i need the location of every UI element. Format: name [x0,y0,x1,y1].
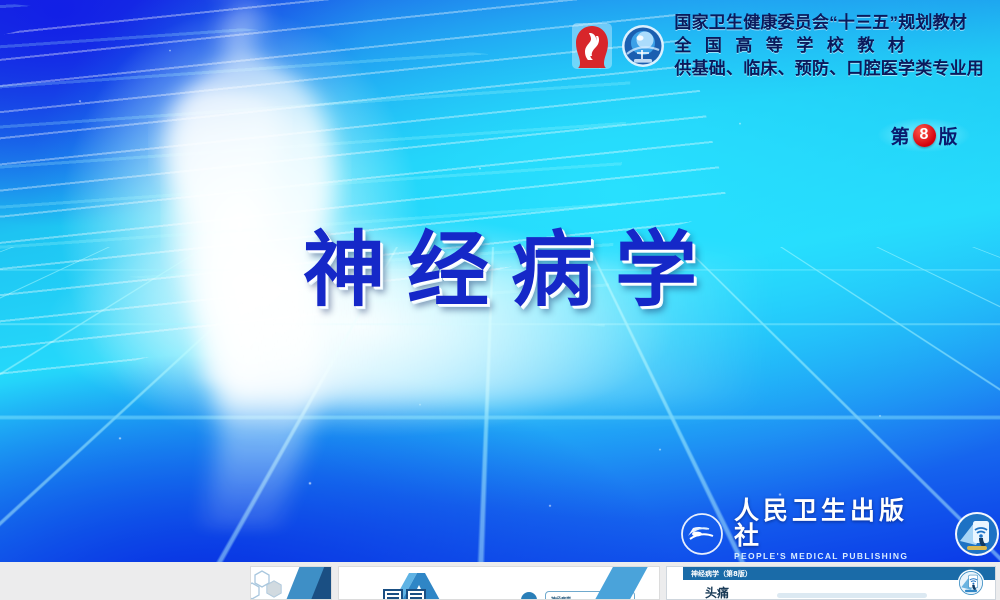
slide-filmstrip[interactable]: 神经病学 神经病学（第8版） 头痛 [0,562,1000,600]
thumbnail-heading-underline [777,593,927,598]
edition-prefix: 第 [890,122,909,149]
header-line-1: 国家卫生健康委员会“十三五”规划教材 [674,12,984,34]
header-line-3: 供基础、临床、预防、口腔医学类专业用 [674,58,984,80]
right-triangle-shape [591,566,651,600]
thumbnail-bar-title: 神经病学（第8版） [683,569,752,579]
thumbnail-chevron-doc[interactable]: 神经病学 [338,566,660,600]
wifi-touch-badge-icon [957,569,985,597]
document-boxes-icon [383,589,426,600]
wifi-touch-badge-icon[interactable] [954,511,1000,557]
header-text-lines: 国家卫生健康委员会“十三五”规划教材 全国高等学校教材 供基础、临床、预防、口腔… [674,12,984,79]
nhc-red-emblem-icon [572,23,612,69]
edition-number: 8 [913,124,936,147]
blue-globe-135-icon [621,24,665,68]
presentation-viewer: 国家卫生健康委员会“十三五”规划教材 全国高等学校教材 供基础、临床、预防、口腔… [0,0,1000,600]
publisher-block: 人民卫生出版社 PEOPLE'S MEDICAL PUBLISHING HOUS… [680,498,1000,562]
edition-suffix: 版 [939,122,958,149]
thumbnail-left-margin [667,567,683,599]
thumbnail-content-headache[interactable]: 神经病学（第8版） 头痛 [666,566,996,600]
bullet-dot [521,592,537,600]
slide-canvas[interactable]: 国家卫生健康委员会“十三五”规划教材 全国高等学校教材 供基础、临床、预防、口腔… [0,0,1000,562]
slide-title: 神经病学 [0,203,1000,322]
publisher-name-en: PEOPLE'S MEDICAL PUBLISHING HOUSE [734,552,936,562]
header-line-2: 全国高等学校教材 [674,35,984,57]
publisher-name-group: 人民卫生出版社 PEOPLE'S MEDICAL PUBLISHING HOUS… [734,498,936,562]
textbook-header-block: 国家卫生健康委员会“十三五”规划教材 全国高等学校教材 供基础、临床、预防、口腔… [572,12,984,79]
publisher-name-cn: 人民卫生出版社 [734,498,936,548]
thumbnail-top-bar: 神经病学（第8版） [683,567,995,580]
thumbnail-hex-chevron[interactable] [250,566,332,600]
pmph-swallow-mark-icon [680,512,724,556]
thumbnail-heading: 头痛 [705,584,729,600]
edition-badge: 第 8 版 [878,118,970,152]
